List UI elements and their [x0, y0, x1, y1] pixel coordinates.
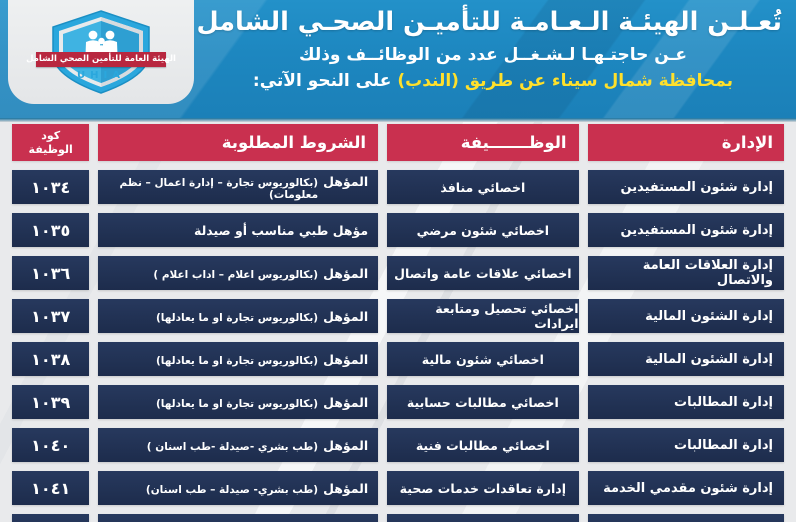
table-body: إدارة شئون المستفيديناخصائي منافذالمؤهل(… [0, 170, 796, 522]
column-header-job-code: كود الوظيفة [12, 124, 89, 161]
requirement-label: المؤهل [323, 266, 368, 281]
cell-requirements: مؤهل طبي مناسب أو صيدلة [98, 213, 378, 247]
cell-requirements: المؤهل(طب بشري- صيدلة – طب اسنان) [98, 514, 378, 522]
logo-acronym: UHIA [42, 70, 160, 81]
cell-job-code: ١٠٣٨ [12, 342, 89, 376]
logo-ribbon: الهيئة العامة للتأمين الصحي الشامل [36, 52, 166, 67]
cell-requirements: المؤهل(بكالوريوس تجارة او ما يعادلها) [98, 385, 378, 419]
announcement-poster: الهيئة العامة للتأمين الصحي الشامل UHIA … [0, 0, 796, 522]
banner-underline [0, 118, 796, 122]
cell-requirements: المؤهل(طب بشري -صيدلة -طب اسنان ) [98, 428, 378, 462]
table-row: إدارة شئون مقدمي الخدمةإدارة تعاقدات خدم… [0, 471, 796, 505]
headline-block: تُعـلـن الهيئـة الـعـامـة للتأميـن الصحـ… [204, 4, 782, 95]
cell-department: إدارة الشئون المالية [588, 299, 784, 333]
column-header-job-code-line1: كود [41, 129, 60, 143]
headline-line-3: بمحافظة شمال سيناء عن طريق (الندب) على ا… [204, 69, 782, 95]
requirement-label: المؤهل [323, 309, 368, 324]
cell-department: إدارة المطالبات [588, 428, 784, 462]
headline-highlight: بمحافظة شمال سيناء عن طريق (الندب) [397, 71, 733, 91]
table-row: إدارة الشئون الماليةاخصائي تحصيل ومتابعة… [0, 299, 796, 333]
cell-job-title: اخصائي شئون مالية [387, 342, 578, 376]
table-row: إدارة الشئون الماليةاخصائي شئون ماليةالم… [0, 342, 796, 376]
table-header-row: الإدارة الوظـــــــيفة الشروط المطلوبة ك… [0, 124, 796, 161]
cell-department: إدارة شئون مقدمي الخدمة [588, 514, 784, 522]
cell-job-code: ١٠٤٢ [12, 514, 89, 522]
table-row: إدارة شئون المستفيديناخصائي منافذالمؤهل(… [0, 170, 796, 204]
cell-job-title: اخصائي علاقات عامة واتصال [387, 256, 578, 290]
cell-job-code: ١٠٣٧ [12, 299, 89, 333]
logo-ribbon-text: الهيئة العامة للتأمين الصحي الشامل [26, 55, 176, 64]
cell-job-code: ١٠٣٥ [12, 213, 89, 247]
requirement-label: المؤهل [323, 481, 368, 496]
requirement-detail: (طب بشري- صيدلة – طب اسنان) [146, 484, 318, 496]
requirement-detail: (بكالوريوس تجارة – إدارة اعمال – نظم معل… [98, 177, 318, 201]
table-row: إدارة العلاقات العامة والاتصالاخصائي علا… [0, 256, 796, 290]
cell-department: إدارة العلاقات العامة والاتصال [588, 256, 784, 290]
uhia-shield-logo: الهيئة العامة للتأمين الصحي الشامل UHIA [42, 8, 160, 96]
table-row: إدارة شئون المستفيديناخصائي شئون مرضيمؤه… [0, 213, 796, 247]
cell-department: إدارة شئون المستفيدين [588, 170, 784, 204]
cell-job-title: اخصائي مطالبات حسابية [387, 385, 578, 419]
requirement-label: المؤهل [323, 438, 368, 453]
requirement-label: المؤهل [323, 395, 368, 410]
cell-job-title: اخصائي شئون مرضي [387, 213, 578, 247]
cell-job-code: ١٠٣٦ [12, 256, 89, 290]
headline-line-3-rest: على النحو الآتي: [253, 71, 392, 91]
requirement-detail: (بكالوريوس تجارة او ما يعادلها) [156, 398, 318, 410]
cell-department: إدارة الشئون المالية [588, 342, 784, 376]
cell-requirements: المؤهل(بكالوريوس تجارة او ما يعادلها) [98, 342, 378, 376]
requirement-detail: (بكالوريوس تجارة او ما يعادلها) [156, 355, 318, 367]
cell-requirements: المؤهل(بكالوريوس تجارة – إدارة اعمال – ن… [98, 170, 378, 204]
cell-job-title: إدارة تعاقدات خدمات صحية [387, 471, 578, 505]
table-row: إدارة المطالباتاخصائي مطالبات حسابيةالمؤ… [0, 385, 796, 419]
requirement-label: المؤهل [323, 174, 368, 189]
cell-job-title: اخصائي تحصيل ومتابعة ايرادات [387, 299, 578, 333]
cell-requirements: المؤهل(بكالوريوس تجارة او ما يعادلها) [98, 299, 378, 333]
table-row: إدارة شئون مقدمي الخدمةإدارة متابعة تقيي… [0, 514, 796, 522]
table-row: إدارة المطالباتاخصائي مطالبات فنيةالمؤهل… [0, 428, 796, 462]
cell-job-code: ١٠٤١ [12, 471, 89, 505]
column-header-requirements: الشروط المطلوبة [98, 124, 378, 161]
jobs-table: الإدارة الوظـــــــيفة الشروط المطلوبة ك… [0, 124, 796, 522]
headline-line-2: عـن حاجتـهـا لـشـغــل عدد من الوظائــف و… [204, 43, 782, 69]
column-header-job-title: الوظـــــــيفة [387, 124, 578, 161]
cell-department: إدارة المطالبات [588, 385, 784, 419]
requirement-detail: (طب بشري -صيدلة -طب اسنان ) [147, 441, 318, 453]
cell-job-code: ١٠٣٤ [12, 170, 89, 204]
cell-job-code: ١٠٣٩ [12, 385, 89, 419]
cell-job-code: ١٠٤٠ [12, 428, 89, 462]
requirement-detail: (بكالوريوس اعلام – اداب اعلام ) [153, 269, 318, 281]
cell-requirements: المؤهل(طب بشري- صيدلة – طب اسنان) [98, 471, 378, 505]
requirement-label: مؤهل طبي مناسب أو صيدلة [194, 223, 368, 238]
cell-job-title: اخصائي منافذ [387, 170, 578, 204]
cell-job-title: اخصائي مطالبات فنية [387, 428, 578, 462]
column-header-job-code-line2: الوظيفة [29, 143, 73, 157]
requirement-detail: (بكالوريوس تجارة او ما يعادلها) [156, 312, 318, 324]
cell-requirements: المؤهل(بكالوريوس اعلام – اداب اعلام ) [98, 256, 378, 290]
cell-department: إدارة شئون مقدمي الخدمة [588, 471, 784, 505]
cell-department: إدارة شئون المستفيدين [588, 213, 784, 247]
headline-line-1: تُعـلـن الهيئـة الـعـامـة للتأميـن الصحـ… [204, 4, 782, 41]
cell-job-title: إدارة متابعة تقييم خدمات [387, 514, 578, 522]
requirement-label: المؤهل [323, 352, 368, 367]
column-header-department: الإدارة [588, 124, 784, 161]
logo-plaque: الهيئة العامة للتأمين الصحي الشامل UHIA [8, 0, 194, 104]
